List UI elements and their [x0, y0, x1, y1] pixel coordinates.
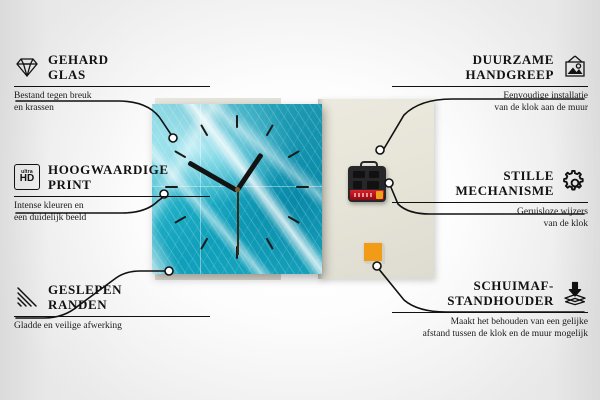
feature-title-line1: GEHARD	[48, 52, 109, 67]
feature-stille-mechanisme: STILLE MECHANISME Geruisloze wijzers van…	[392, 168, 588, 230]
diamond-icon	[14, 54, 40, 80]
feature-title: GEHARD GLAS	[48, 52, 109, 82]
feature-header: DUURZAME HANDGREEP	[392, 52, 588, 82]
feature-divider	[14, 196, 210, 197]
feature-desc-line2: van de klok aan de muur	[392, 103, 588, 115]
feature-header: ultra HD HOOGWAARDIGE PRINT	[14, 162, 210, 192]
battery-positive-terminal	[376, 191, 383, 199]
hd-label: HD	[20, 174, 34, 184]
feature-title: GESLEPEN RANDEN	[48, 282, 122, 312]
feature-description: Intense kleuren en een duidelijk beeld	[14, 201, 210, 224]
feature-title: STILLE MECHANISME	[456, 168, 554, 198]
feature-header: GEHARD GLAS	[14, 52, 210, 82]
mechanism-detail	[367, 181, 379, 189]
ultra-hd-icon: ultra HD	[14, 164, 40, 190]
clock-tick	[236, 115, 238, 128]
feature-header: SCHUIMAF- STANDHOUDER	[392, 278, 588, 308]
feature-title-line2: HANDGREEP	[466, 67, 554, 82]
feature-header: GESLEPEN RANDEN	[14, 282, 210, 312]
feature-duurzame-handgreep: DUURZAME HANDGREEP Eenvoudige installati…	[392, 52, 588, 114]
clock-second-hand	[237, 189, 239, 255]
feature-description: Geruisloze wijzers van de klok	[392, 207, 588, 230]
feature-title: SCHUIMAF- STANDHOUDER	[447, 278, 554, 308]
feature-divider	[14, 86, 210, 87]
feature-desc-line1: Bestand tegen breuk	[14, 91, 210, 103]
feature-desc-line2: afstand tussen de klok en de muur mogeli…	[392, 329, 588, 341]
feature-title-line1: DUURZAME	[466, 52, 554, 67]
feature-title-line1: GESLEPEN	[48, 282, 122, 297]
feature-desc-line2: van de klok	[392, 219, 588, 231]
feature-desc-line2: een duidelijk beeld	[14, 213, 210, 225]
feature-title-line1: STILLE	[456, 168, 554, 183]
feature-divider	[14, 316, 210, 317]
foam-spacer-pad	[364, 243, 382, 261]
clock-center-cap	[235, 187, 240, 192]
feature-divider	[392, 86, 588, 87]
gear-icon	[562, 170, 588, 196]
clock-mechanism	[348, 166, 386, 202]
feature-title-line2: MECHANISME	[456, 183, 554, 198]
feature-title: DUURZAME HANDGREEP	[466, 52, 554, 82]
bevel-lines-icon	[14, 284, 40, 310]
clock-tick	[296, 186, 309, 188]
feature-hoogwaardige-print: ultra HD HOOGWAARDIGE PRINT Intense kleu…	[14, 162, 210, 224]
mechanism-hanger-loop	[360, 161, 378, 171]
battery-label	[354, 193, 374, 197]
feature-desc-line2: en krassen	[14, 103, 210, 115]
feature-title-line2: GLAS	[48, 67, 109, 82]
feature-geslepen-randen: GESLEPEN RANDEN Gladde en veilige afwerk…	[14, 282, 210, 333]
mechanism-detail	[353, 181, 362, 189]
feature-description: Maakt het behouden van een gelijke afsta…	[392, 317, 588, 340]
feature-desc-line1: Intense kleuren en	[14, 201, 210, 213]
mechanism-battery	[350, 190, 384, 200]
feature-schuimafstandhouder: SCHUIMAF- STANDHOUDER Maakt het behouden…	[392, 278, 588, 340]
feature-title-line1: SCHUIMAF-	[447, 278, 554, 293]
feature-desc-line1: Gladde en veilige afwerking	[14, 321, 210, 333]
feature-gehard-glas: GEHARD GLAS Bestand tegen breuk en krass…	[14, 52, 210, 114]
mechanism-detail	[353, 171, 365, 178]
press-pad-icon	[562, 280, 588, 306]
feature-title-line2: STANDHOUDER	[447, 293, 554, 308]
feature-header: STILLE MECHANISME	[392, 168, 588, 198]
feature-description: Gladde en veilige afwerking	[14, 321, 210, 333]
feature-desc-line1: Geruisloze wijzers	[392, 207, 588, 219]
feature-title-line1: HOOGWAARDIGE	[48, 162, 169, 177]
feature-divider	[392, 202, 588, 203]
picture-frame-icon	[562, 54, 588, 80]
feature-title: HOOGWAARDIGE PRINT	[48, 162, 169, 192]
feature-desc-line1: Eenvoudige installatie	[392, 91, 588, 103]
infographic-canvas: GEHARD GLAS Bestand tegen breuk en krass…	[0, 0, 600, 400]
feature-desc-line1: Maakt het behouden van een gelijke	[392, 317, 588, 329]
feature-title-line2: PRINT	[48, 177, 169, 192]
feature-title-line2: RANDEN	[48, 297, 122, 312]
feature-description: Bestand tegen breuk en krassen	[14, 91, 210, 114]
mechanism-detail	[369, 171, 379, 178]
feature-description: Eenvoudige installatie van de klok aan d…	[392, 91, 588, 114]
feature-divider	[392, 312, 588, 313]
